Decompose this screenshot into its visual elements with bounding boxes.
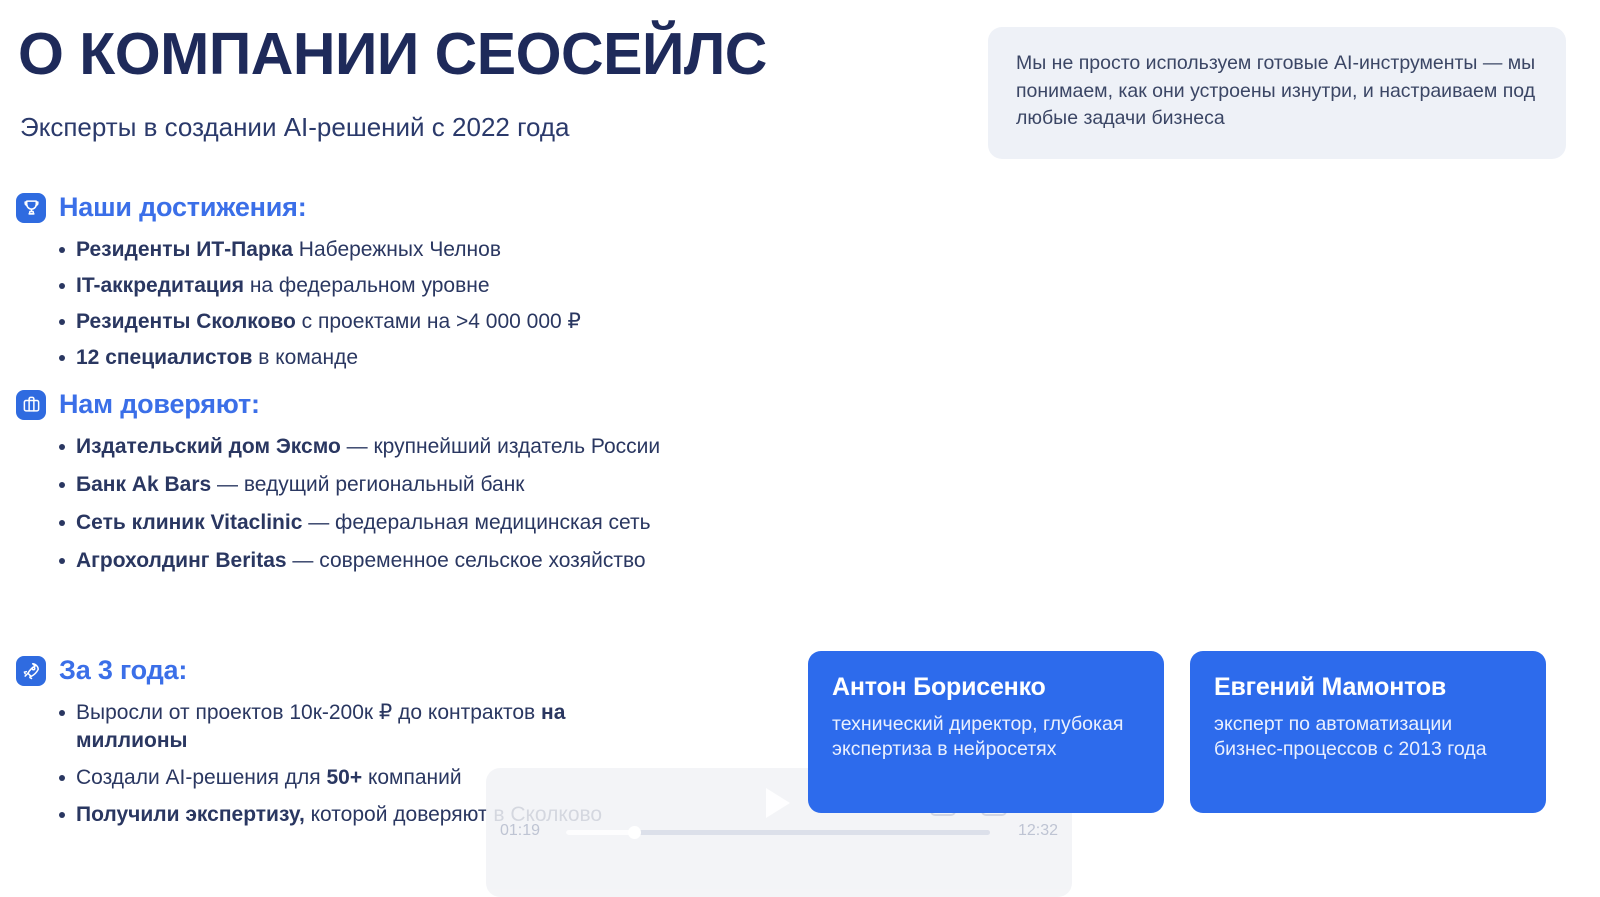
person-name: Евгений Мамонтов: [1214, 673, 1522, 702]
play-icon[interactable]: [766, 788, 790, 818]
section-title: За 3 года:: [59, 655, 187, 686]
list-item: Выросли от проектов 10к-200к ₽ до контра…: [76, 699, 646, 755]
person-card-evgeny: Евгений Мамонтов эксперт по автоматизаци…: [1190, 651, 1546, 813]
list-item: IT-аккредитация на федеральном уровне: [76, 272, 581, 300]
list-item: Резиденты Сколково с проектами на >4 000…: [76, 308, 581, 336]
section-header: Нам доверяют:: [16, 389, 660, 420]
total-time-label: 12:32: [1018, 822, 1058, 840]
section-title: Нам доверяют:: [59, 389, 260, 420]
list-item: 12 специалистов в команде: [76, 344, 581, 372]
progress-knob[interactable]: [628, 826, 641, 839]
current-time-label: 01:19: [500, 822, 540, 840]
section-header: Наши достижения:: [16, 192, 581, 223]
list-item: Издательский дом Эксмо — крупнейший изда…: [76, 433, 660, 461]
achievements-list: Резиденты ИТ-Парка Набережных Челнов IT-…: [16, 236, 581, 372]
clients-list: Издательский дом Эксмо — крупнейший изда…: [16, 433, 660, 575]
section-achievements: Наши достижения: Резиденты ИТ-Парка Набе…: [16, 192, 581, 380]
trophy-icon: [16, 193, 46, 223]
person-role: эксперт по автоматизации бизнес-процессо…: [1214, 712, 1522, 763]
person-name: Антон Борисенко: [832, 673, 1140, 702]
intro-callout-text: Мы не просто используем готовые AI-инстр…: [1016, 52, 1535, 129]
briefcase-icon: [16, 390, 46, 420]
person-role: технический директор, глубокая экспертиз…: [832, 712, 1140, 763]
rocket-icon: [16, 656, 46, 686]
list-item: Банк Ak Bars — ведущий региональный банк: [76, 471, 660, 499]
progress-fill: [566, 830, 634, 835]
section-header: За 3 года:: [16, 655, 646, 686]
list-item: Резиденты ИТ-Парка Набережных Челнов: [76, 236, 581, 264]
list-item: Сеть клиник Vitaclinic — федеральная мед…: [76, 509, 660, 537]
page-title: О КОМПАНИИ СЕОСЕЙЛС: [18, 24, 767, 85]
page-subtitle: Эксперты в создании AI-решений с 2022 го…: [20, 112, 570, 143]
intro-callout-box: Мы не просто используем готовые AI-инстр…: [988, 27, 1566, 159]
person-card-anton: Антон Борисенко технический директор, гл…: [808, 651, 1164, 813]
progress-scrubber[interactable]: [566, 830, 990, 835]
section-title: Наши достижения:: [59, 192, 307, 223]
section-clients: Нам доверяют: Издательский дом Эксмо — к…: [16, 389, 660, 585]
list-item: Агрохолдинг Beritas — современное сельск…: [76, 547, 660, 575]
